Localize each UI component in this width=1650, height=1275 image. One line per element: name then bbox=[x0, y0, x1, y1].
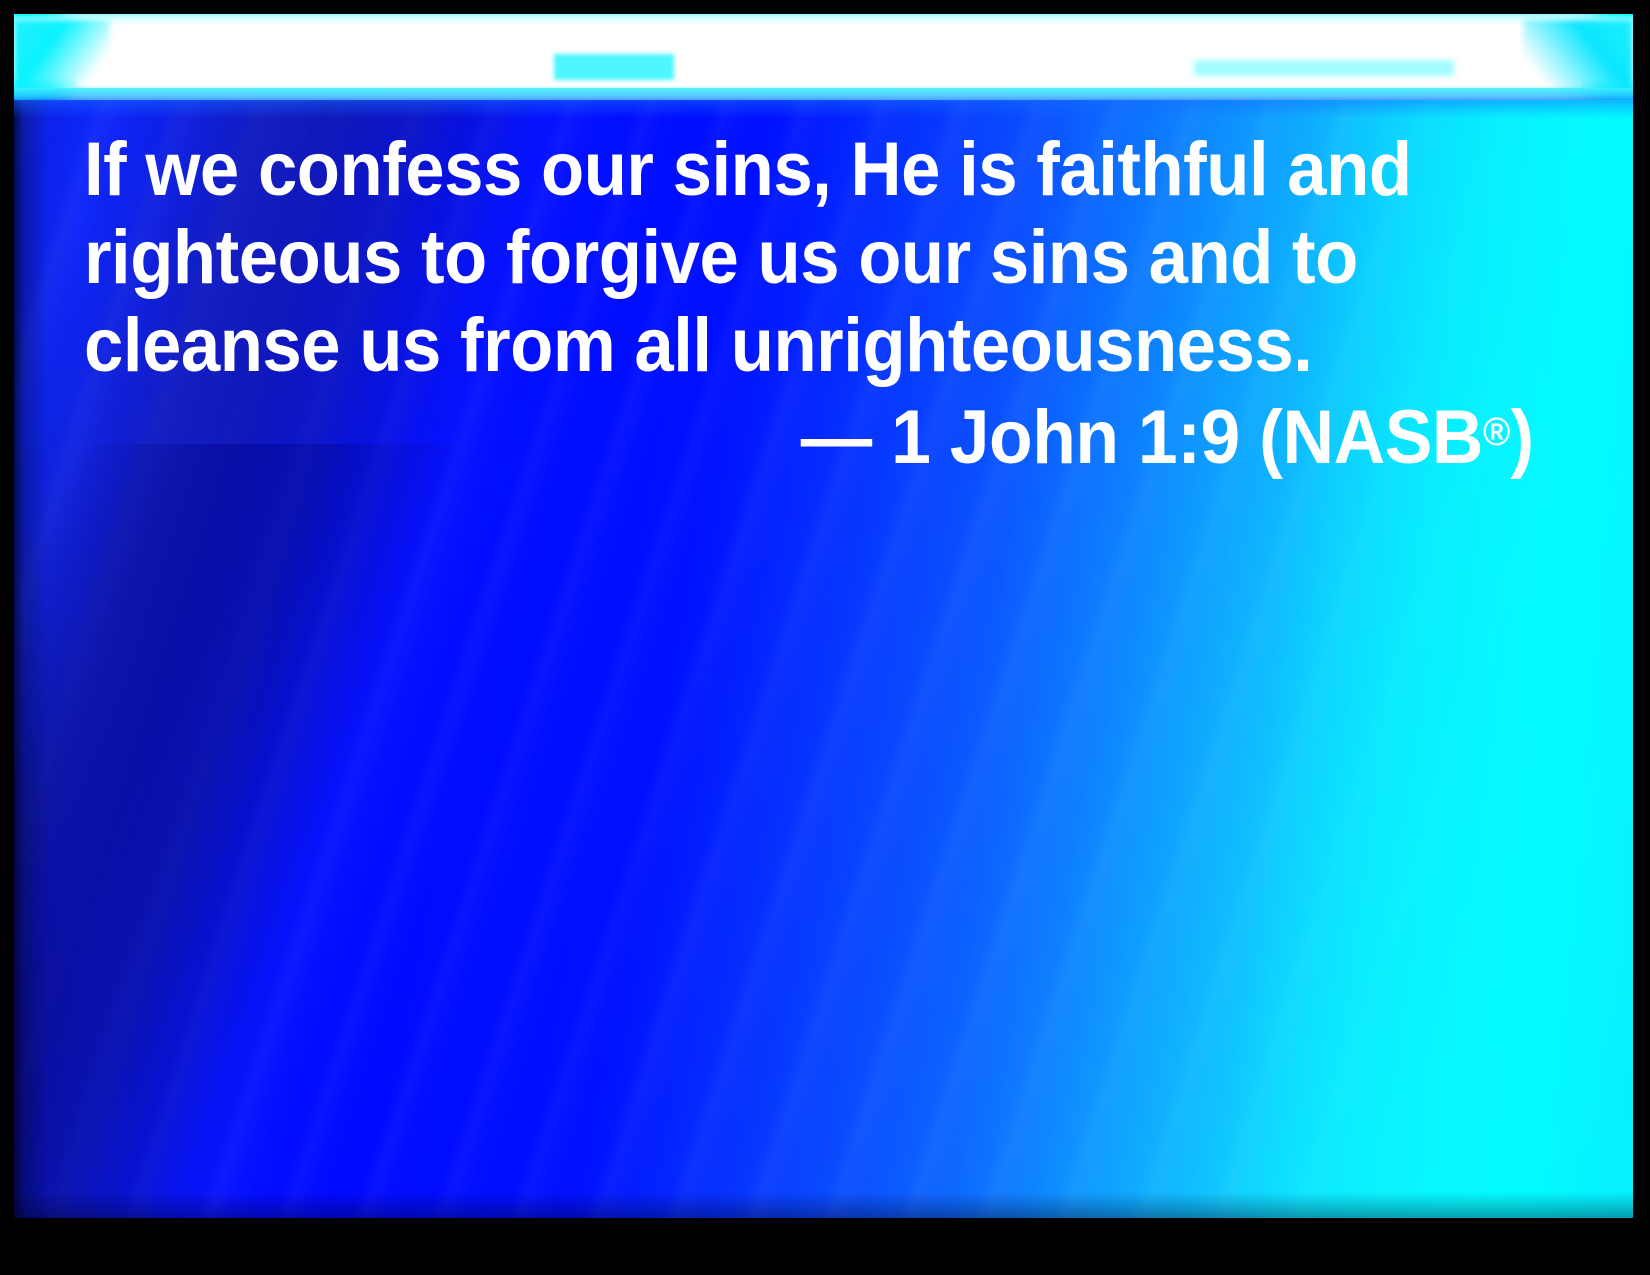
band-cyan-blot-left bbox=[554, 54, 674, 80]
verse-line-1: If we confess our sins, He is faithful a… bbox=[84, 132, 1479, 208]
verse-line-3: cleanse us from all unrighteousness. bbox=[84, 308, 1479, 384]
verse-line-2: righteous to forgive us our sins and to bbox=[84, 220, 1479, 296]
band-cyan-blot-right bbox=[1194, 60, 1454, 76]
background-dark-swoosh-secondary bbox=[14, 444, 1593, 1218]
attribution-reference: 1 John 1:9 bbox=[891, 395, 1240, 480]
header-band-underglow bbox=[14, 88, 1633, 118]
verse-slide: If we confess our sins, He is faithful a… bbox=[0, 0, 1650, 1275]
verse-attribution-inner: — 1 John 1:9 (NASB®) bbox=[801, 394, 1534, 476]
attribution-translation: NASB bbox=[1283, 395, 1484, 480]
attribution-close-paren: ) bbox=[1511, 395, 1534, 480]
registered-trademark-icon: ® bbox=[1483, 410, 1510, 454]
attribution-open-paren: ( bbox=[1259, 395, 1282, 480]
attribution-dash: — bbox=[801, 395, 872, 480]
attribution-spacer-2 bbox=[1240, 395, 1259, 480]
verse-attribution: — 1 John 1:9 (NASB®) bbox=[14, 394, 1534, 476]
slide-artwork-canvas: If we confess our sins, He is faithful a… bbox=[14, 14, 1633, 1218]
band-white-core bbox=[76, 24, 1581, 86]
attribution-spacer-1 bbox=[872, 395, 891, 480]
